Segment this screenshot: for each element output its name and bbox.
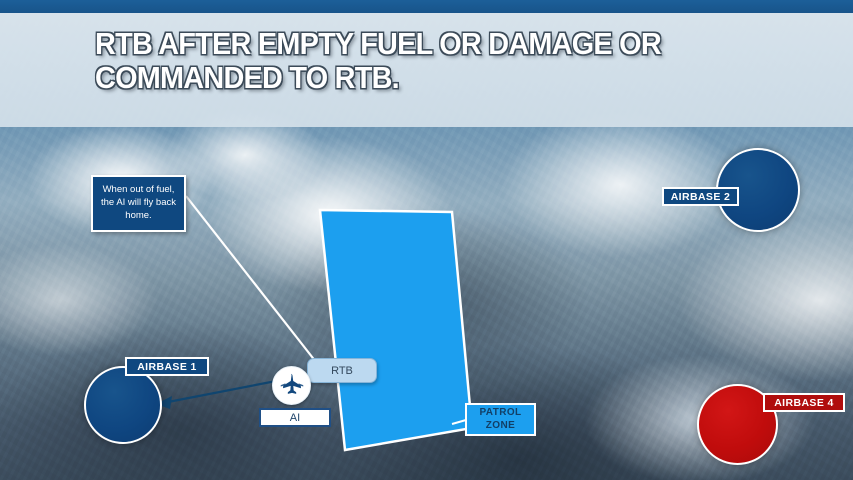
callout-leader-line bbox=[186, 196, 316, 362]
airbase-1-label[interactable]: AIRBASE 1 bbox=[125, 357, 209, 376]
airbase-1-marker[interactable] bbox=[84, 366, 162, 444]
callout-note: When out of fuel, the AI will fly back h… bbox=[91, 175, 186, 232]
patrol-zone-label-line2: ZONE bbox=[486, 420, 515, 433]
rtb-state-label[interactable]: RTB bbox=[307, 358, 377, 383]
patrol-label-leader bbox=[452, 420, 466, 424]
patrol-zone-label-line1: PATROL bbox=[479, 407, 521, 420]
patrol-zone-label[interactable]: PATROL ZONE bbox=[465, 403, 536, 436]
ai-unit-label[interactable]: AI bbox=[259, 408, 331, 427]
fighter-jet-icon[interactable] bbox=[272, 366, 311, 405]
airbase-4-label[interactable]: AIRBASE 4 bbox=[763, 393, 845, 412]
slide-canvas: RTB AFTER EMPTY FUEL OR DAMAGE OR COMMAN… bbox=[0, 0, 853, 480]
airbase-2-label[interactable]: AIRBASE 2 bbox=[662, 187, 739, 206]
rtb-route-line bbox=[168, 381, 276, 402]
